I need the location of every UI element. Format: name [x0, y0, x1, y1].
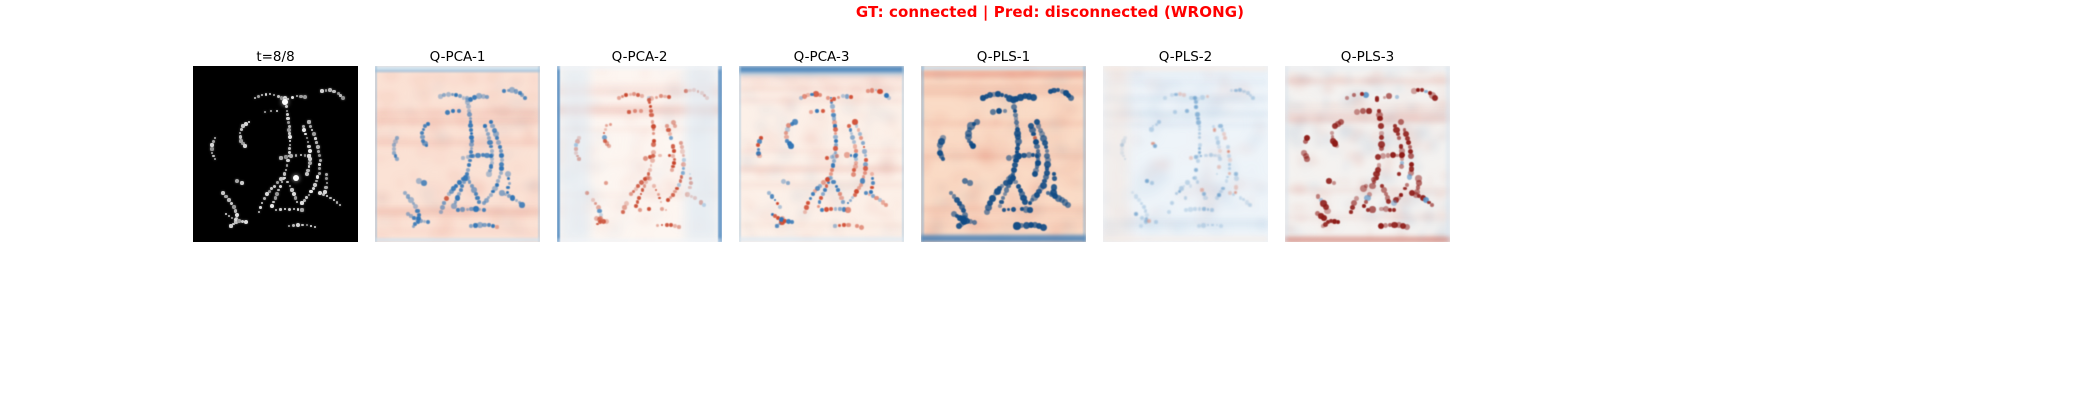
filament-dot: [281, 181, 284, 184]
filament-dot: [230, 202, 234, 206]
filament-dot: [317, 150, 320, 153]
filament-dot: [307, 145, 311, 149]
filament-dot: [309, 125, 312, 128]
saliency-edge: [1285, 66, 1288, 242]
saliency-edge: [921, 66, 1086, 70]
filament-dot: [288, 208, 291, 211]
filament-dot: [235, 179, 239, 183]
filament-dot: [224, 195, 228, 199]
filament-dot: [286, 113, 289, 116]
filament-dot: [273, 185, 276, 188]
filament-dot: [304, 133, 307, 136]
filament-dot: [258, 211, 261, 214]
filament-dot: [261, 202, 263, 204]
filament-dot: [288, 132, 290, 134]
filament-dot: [320, 89, 324, 93]
saliency-edge: [375, 238, 540, 242]
panel-image-q-pls-2: [1103, 66, 1268, 242]
panel-image-frame: [193, 66, 358, 242]
panel-image-q-pca-2: [557, 66, 722, 242]
saliency-edge: [921, 235, 1086, 242]
filament-dot: [239, 135, 243, 139]
filament-dot: [279, 185, 282, 188]
panel-title-q-pls-3: Q-PLS-3: [1285, 48, 1450, 66]
filament-dot: [288, 125, 291, 128]
filament-dot: [307, 120, 310, 123]
saliency-edge: [1083, 66, 1086, 242]
filament-dot: [303, 95, 307, 99]
filament-dot: [276, 181, 279, 184]
filament-dot: [286, 164, 289, 167]
filament-dot: [290, 188, 293, 191]
filament-dot: [306, 137, 308, 139]
filament-dot: [228, 215, 230, 217]
filament-dot: [322, 193, 326, 197]
filament-dot: [285, 169, 288, 172]
filament-dot: [210, 147, 213, 150]
saliency-edge: [1285, 237, 1450, 242]
filament-dot: [328, 88, 332, 92]
filament-dot: [275, 192, 279, 196]
saliency-edges: [739, 66, 904, 242]
saliency-edge: [739, 237, 904, 242]
saliency-edge: [1103, 236, 1268, 242]
panel-q-pca-2: Q-PCA-2: [557, 48, 722, 242]
filament-dot: [306, 224, 308, 226]
filament-dot: [277, 189, 280, 192]
filament-dot: [279, 208, 281, 210]
saliency-edges: [921, 66, 1086, 242]
filament-dot: [275, 209, 278, 212]
filament-dot: [273, 94, 276, 97]
saliency-edge: [375, 66, 377, 242]
filament-dot: [296, 201, 299, 204]
filament-dot: [329, 197, 332, 200]
filament-dot: [239, 132, 241, 134]
filament-dot: [286, 117, 289, 120]
filament-dot: [214, 137, 217, 140]
filament-dot: [283, 96, 287, 100]
panel-row: t=8/8 Q-PCA-1 Q-PCA-2 Q-PCA-3 Q-PLS-1 Q-…: [193, 48, 1450, 242]
filament-dot: [240, 181, 243, 184]
filament-dot: [305, 172, 309, 176]
filament-dot: [318, 167, 321, 170]
saliency-edge: [557, 66, 560, 242]
filament-dot: [244, 220, 248, 224]
filament-dot: [323, 190, 327, 194]
saliency-edge: [1285, 66, 1450, 70]
filament-dot: [288, 135, 292, 139]
filament-dot: [308, 165, 311, 168]
filament-dot: [292, 224, 295, 227]
filament-dot: [297, 208, 300, 211]
saliency-edge: [1446, 66, 1450, 242]
panel-q-pls-1: Q-PLS-1: [921, 48, 1086, 242]
filament-dot: [288, 147, 291, 150]
saliency-edge: [538, 66, 540, 242]
filament-dot: [237, 219, 240, 222]
panel-title-q-pca-2: Q-PCA-2: [557, 48, 722, 66]
saliency-edge: [375, 66, 540, 71]
filament-dot: [268, 190, 271, 193]
filament-dot: [274, 196, 278, 200]
filament-dot: [286, 181, 289, 184]
filament-dot: [284, 177, 287, 180]
filament-dot: [318, 154, 322, 158]
filament-dot: [244, 122, 248, 126]
panel-title-q-pls-1: Q-PLS-1: [921, 48, 1086, 66]
panel-title-q-pls-2: Q-PLS-2: [1103, 48, 1268, 66]
filament-dot: [272, 201, 275, 204]
filament-dot: [269, 93, 272, 96]
filament-dot: [325, 177, 328, 180]
filament-dot: [295, 154, 298, 157]
panel-image-q-pls-3: [1285, 66, 1450, 242]
figure-title: GT: connected | Pred: disconnected (WRON…: [0, 3, 2100, 21]
filament-dot: [314, 137, 317, 140]
filament-dot: [221, 191, 225, 195]
filament-dot: [296, 223, 300, 227]
saliency-edge: [375, 70, 540, 72]
filament-dot: [308, 149, 312, 153]
filament-dot: [227, 198, 231, 202]
filament-dot: [341, 96, 345, 100]
saliency-edge: [557, 66, 722, 69]
filament-dot: [235, 217, 238, 220]
saliency-edges: [557, 66, 722, 242]
filament-dot: [241, 142, 245, 146]
panel-image-q-pca-1: [375, 66, 540, 242]
filament-dot: [325, 89, 328, 92]
filament-dot: [270, 187, 274, 191]
filament-dot: [248, 121, 250, 123]
filament-dot: [326, 195, 329, 198]
filament-dot: [288, 155, 290, 157]
filament-dot: [289, 185, 292, 188]
filament-dot: [287, 128, 291, 132]
filament-dot: [308, 194, 310, 196]
filament-dot: [316, 145, 320, 149]
filament-dot: [234, 209, 237, 212]
filament-dot: [231, 217, 234, 220]
filament-dot: [288, 225, 290, 227]
saliency-edge: [921, 66, 924, 242]
filament-dot: [286, 110, 289, 113]
filament-dot: [337, 92, 340, 95]
filament-dot: [211, 152, 213, 154]
filament-dot: [284, 208, 286, 210]
filament-dot: [315, 180, 318, 183]
filament-dot: [300, 201, 303, 204]
filament-dot: [308, 157, 312, 161]
saliency-edge: [1103, 66, 1129, 242]
filament-dot: [302, 128, 306, 132]
filament-dot: [316, 175, 319, 178]
filament-dot: [287, 98, 289, 100]
filament-dot: [214, 158, 216, 160]
saliency-edge: [739, 66, 904, 73]
filament-dot: [284, 101, 287, 104]
saliency-edge: [685, 66, 718, 242]
filament-dot: [289, 140, 292, 143]
filament-dot: [291, 96, 294, 99]
filament-dot: [234, 218, 237, 221]
filament-dot: [277, 95, 280, 98]
filament-dot: [276, 110, 278, 112]
filament-dot: [225, 213, 228, 216]
saliency-edge: [718, 66, 722, 242]
filament-dot: [283, 98, 287, 102]
filament-dot: [263, 197, 267, 201]
panel-q-pls-3: Q-PLS-3: [1285, 48, 1450, 242]
filament-dot: [235, 213, 239, 217]
filament-dot: [265, 93, 268, 96]
panel-title-q-pca-1: Q-PCA-1: [375, 48, 540, 66]
filament-dot: [302, 125, 305, 128]
filament-dot: [324, 186, 327, 189]
saliency-edge: [739, 72, 904, 76]
filament-dot: [307, 154, 310, 157]
filament-dot: [312, 132, 316, 136]
filament-dot: [232, 205, 235, 208]
filament-dot: [261, 94, 264, 97]
filament-blob: [293, 175, 299, 181]
saliency-edge: [739, 66, 741, 242]
filament-dot: [259, 206, 262, 209]
panel-title-q-pca-3: Q-PCA-3: [739, 48, 904, 66]
filament-dot: [279, 156, 282, 159]
filament-dot: [265, 192, 269, 196]
filament-dot: [241, 124, 244, 127]
filament-dot: [336, 201, 338, 203]
filament-dot: [318, 172, 321, 175]
filament-dot: [254, 97, 257, 100]
filament-dot: [212, 140, 215, 143]
filament-dot: [312, 187, 315, 190]
filament-dot: [285, 105, 288, 108]
filament-dot: [229, 224, 232, 227]
filament-dot: [339, 204, 342, 207]
filament-dot: [241, 220, 245, 224]
panel-title-frame: t=8/8: [193, 48, 358, 66]
filament-dot: [339, 94, 342, 97]
filament-dot: [314, 226, 317, 229]
filament-dot: [296, 95, 299, 98]
filament-dot: [308, 161, 312, 165]
filament-dot: [282, 177, 285, 180]
filament-dot: [243, 144, 246, 147]
filament-dot: [318, 191, 322, 195]
saliency-edge: [902, 66, 904, 242]
filament-dot: [288, 151, 291, 154]
filament-dot: [303, 199, 306, 202]
saliency-edges: [375, 66, 540, 242]
filament-dot: [319, 159, 322, 162]
filament-dot: [292, 192, 296, 196]
filament-dot: [234, 220, 238, 224]
filament-dot: [293, 208, 296, 211]
filament-dot: [325, 173, 328, 176]
saliency-edges: [1103, 66, 1268, 242]
filament-blob: [282, 99, 288, 105]
filament-dot: [287, 121, 290, 124]
filament-dot: [309, 190, 312, 193]
filament-dot: [301, 224, 303, 226]
filament-dot: [300, 208, 303, 211]
filament-dot: [280, 96, 283, 99]
panel-q-pls-2: Q-PLS-2: [1103, 48, 1268, 242]
filament-dot: [239, 139, 242, 142]
panel-q-pca-3: Q-PCA-3: [739, 48, 904, 242]
filament-dot: [289, 154, 292, 157]
saliency-edges: [1285, 66, 1450, 242]
filament-dot: [284, 155, 287, 158]
filament-dot: [270, 110, 272, 112]
filament-dot: [283, 172, 286, 175]
filament-dot: [315, 141, 318, 144]
filament-dot: [240, 128, 243, 131]
filament-dot: [318, 163, 321, 166]
filament-dot: [310, 225, 312, 227]
filament-dot: [232, 223, 234, 225]
filament-dot: [326, 182, 329, 185]
filament-dot: [311, 129, 313, 131]
filament-dot: [257, 95, 261, 99]
panel-q-pca-1: Q-PCA-1: [375, 48, 540, 242]
filament-dot: [300, 154, 302, 156]
saliency-edge: [560, 66, 590, 242]
filament-dot: [333, 199, 336, 202]
filament-dot: [210, 143, 213, 146]
filament-dot: [289, 144, 291, 146]
panel-image-q-pls-1: [921, 66, 1086, 242]
filament-dot: [212, 155, 215, 158]
filament-dot: [279, 177, 283, 181]
panel-frame: t=8/8: [193, 48, 358, 242]
panel-image-q-pca-3: [739, 66, 904, 242]
filament-dot: [286, 159, 289, 162]
filament-dot: [306, 169, 310, 173]
filament-dot: [332, 90, 336, 94]
filament-dot: [299, 95, 303, 99]
filament-dot: [270, 204, 274, 208]
filament-dot: [313, 183, 317, 187]
filament-dot: [264, 111, 267, 114]
filament-dot: [304, 154, 306, 156]
saliency-edge: [557, 239, 722, 242]
filament-dot: [307, 141, 309, 143]
filament-dot: [309, 154, 311, 156]
filament-dot: [305, 196, 308, 199]
saliency-edge: [1103, 66, 1268, 71]
filament-dot: [294, 196, 297, 199]
